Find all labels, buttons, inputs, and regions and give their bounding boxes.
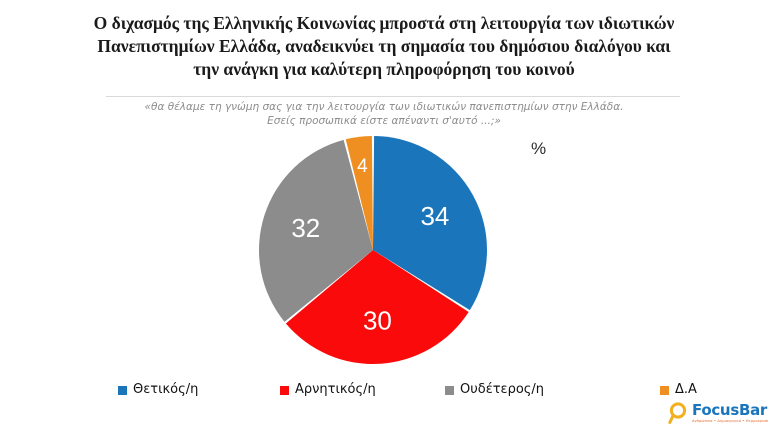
logo-text-block: FocusBari Ανθρώπινα • Δημιουργικά • Θερμ… bbox=[692, 403, 768, 424]
subtitle-line-2: Εσείς προσωπικά είστε απέναντι σ'αυτό ..… bbox=[0, 114, 768, 128]
logo-word-focus: Focus bbox=[692, 401, 739, 419]
pie-chart: 3430324 bbox=[258, 135, 488, 365]
legend-label-positive: Θετικός/η bbox=[133, 383, 198, 397]
magnifier-icon bbox=[668, 401, 690, 425]
legend-item-positive[interactable]: Θετικός/η bbox=[118, 383, 198, 397]
legend-item-neutral[interactable]: Ουδέτερος/η bbox=[445, 383, 544, 397]
logo-wordmark: FocusBari bbox=[692, 403, 768, 418]
pie-slice-value-label: 4 bbox=[357, 156, 368, 177]
pie-slice-value-label: 32 bbox=[291, 213, 320, 243]
title-line-2: Πανεπιστημίων Ελλάδα, αναδεικνύει τη σημ… bbox=[0, 35, 768, 58]
page-title: Ο διχασμός της Ελληνικής Κοινωνίας μπροσ… bbox=[0, 12, 768, 81]
focusbari-logo: FocusBari Ανθρώπινα • Δημιουργικά • Θερμ… bbox=[668, 399, 764, 427]
logo-word-bari: Bari bbox=[739, 401, 768, 419]
legend-swatch-icon-negative bbox=[280, 386, 289, 395]
legend-swatch-icon-no-answer bbox=[660, 386, 669, 395]
chart-legend: Θετικός/η Αρνητικός/η Ουδέτερος/η Δ.Α bbox=[100, 383, 660, 403]
title-line-1: Ο διχασμός της Ελληνικής Κοινωνίας μπροσ… bbox=[0, 12, 768, 35]
legend-label-negative: Αρνητικός/η bbox=[295, 383, 376, 397]
legend-swatch-icon-neutral bbox=[445, 386, 454, 395]
legend-swatch-icon-positive bbox=[118, 386, 127, 395]
legend-label-neutral: Ουδέτερος/η bbox=[460, 383, 544, 397]
legend-item-no-answer[interactable]: Δ.Α bbox=[660, 383, 697, 397]
pie-slice-value-label: 30 bbox=[363, 306, 392, 336]
title-line-3: την ανάγκη για καλύτερη πληροφόρηση του … bbox=[0, 58, 768, 81]
subtitle-line-1: «θα θέλαμε τη γνώμη σας για την λειτουργ… bbox=[0, 100, 768, 114]
legend-label-no-answer: Δ.Α bbox=[675, 383, 697, 397]
pie-chart-svg: 3430324 bbox=[258, 135, 488, 365]
chart-subtitle: «θα θέλαμε τη γνώμη σας για την λειτουργ… bbox=[0, 100, 768, 128]
legend-item-negative[interactable]: Αρνητικός/η bbox=[280, 383, 376, 397]
percent-unit-label: % bbox=[531, 139, 546, 159]
header-divider bbox=[106, 96, 680, 97]
logo-tagline: Ανθρώπινα • Δημιουργικά • Θερμοκρασία bbox=[692, 420, 768, 424]
pie-slice-value-label: 34 bbox=[420, 201, 449, 231]
